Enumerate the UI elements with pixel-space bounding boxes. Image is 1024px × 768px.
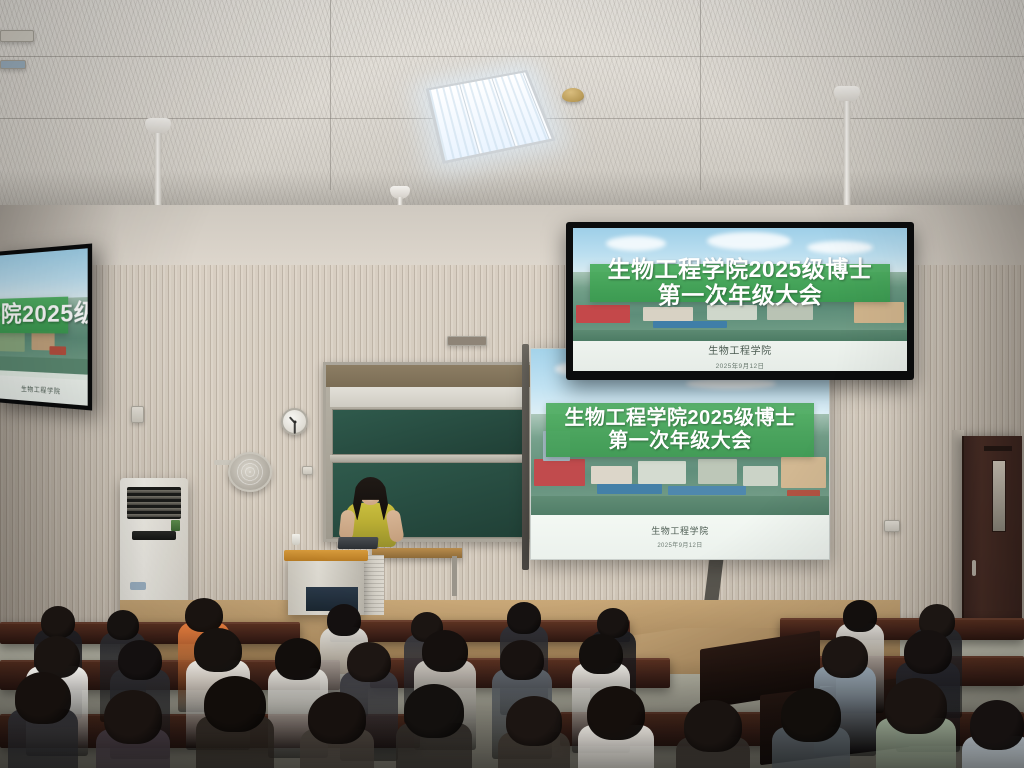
campus-building — [781, 457, 826, 488]
podium-desktop — [284, 550, 368, 561]
cup — [292, 534, 300, 545]
blackboard-top-rail — [326, 365, 530, 387]
audience-member — [578, 686, 654, 768]
campus-building — [638, 461, 686, 484]
slide-sky — [0, 248, 88, 304]
screen-left-rail — [522, 344, 529, 570]
door-handle[interactable] — [972, 560, 976, 576]
audience-head — [347, 642, 391, 682]
audience-head — [970, 700, 1024, 750]
slide-title-band: 生物工程学院2025级博士 第一次年级大会 — [546, 403, 814, 458]
slide-title-line-1: 生物工程学院2025级博士 — [0, 299, 88, 328]
campus-greenery — [531, 496, 829, 517]
campus-waterway — [597, 484, 663, 494]
campus-building — [534, 459, 585, 486]
audience-member — [676, 700, 750, 768]
wall-switch[interactable] — [131, 406, 144, 423]
audience-head — [327, 604, 361, 636]
campus-building — [591, 466, 633, 485]
slide-canvas: 生物工程学院2025级博士 第一次年级大会 生物工程学院 2025年9月12日 — [531, 349, 829, 559]
ac-badge — [171, 520, 180, 531]
campus-building — [643, 307, 693, 321]
ceiling-seam — [0, 56, 1024, 57]
audience-member — [772, 688, 850, 768]
audience-head — [41, 606, 75, 638]
blackboard-mid-rail — [330, 455, 526, 462]
audience-member — [396, 684, 472, 768]
slide-organization: 生物工程学院 — [651, 524, 709, 537]
audience-member — [8, 672, 78, 768]
tv-panel: 生物工程学院2025级博士 第一次年级大会 生物工程学院 2025年9月12日 — [573, 228, 907, 371]
door-window — [992, 460, 1006, 532]
wall-trim — [447, 336, 487, 346]
audience-member — [96, 690, 170, 768]
audience-member — [876, 678, 956, 768]
audience-head — [118, 640, 162, 680]
audience-head — [579, 634, 623, 674]
blackboard-panel-upper — [332, 409, 524, 455]
audience-head — [587, 686, 645, 740]
air-conditioner — [120, 478, 188, 616]
ceiling-seam — [330, 0, 331, 190]
slide-title-band: 生物工程学院2025级博士 第一次年级大会 — [0, 296, 68, 333]
audience-member — [962, 700, 1024, 768]
audience-head — [500, 640, 544, 680]
slide-canvas: 生物工程学院2025级博士 第一次年级大会 生物工程学院 2025年9月12日 — [573, 228, 907, 371]
wall-clock — [281, 408, 308, 435]
audience-head — [308, 692, 366, 744]
cloud-shape — [606, 236, 666, 251]
campus-greenery — [0, 356, 88, 374]
campus-waterway — [653, 321, 726, 328]
audience-head — [506, 696, 562, 746]
slide-organization: 生物工程学院 — [708, 342, 772, 357]
clock-minute-hand — [294, 422, 296, 433]
cloud-shape — [807, 241, 873, 254]
campus-building — [743, 466, 779, 487]
audience-head — [15, 672, 71, 724]
audience-head — [422, 630, 468, 672]
wall-fan-cage — [228, 452, 272, 492]
audience-head — [404, 684, 464, 738]
wall-outlet[interactable] — [884, 520, 900, 532]
campus-greenery — [0, 332, 25, 352]
audience-head — [885, 678, 947, 734]
slide-organization: 生物工程学院 — [21, 384, 61, 396]
overhead-tv: 生物工程学院2025级博士 第一次年级大会 生物工程学院 2025年9月12日 — [566, 222, 914, 380]
audience-member — [300, 692, 374, 768]
campus-building — [854, 302, 904, 323]
door-sign — [984, 446, 1012, 451]
blackboard-white-strip — [330, 387, 526, 407]
slide-footer: 生物工程学院 2025年9月12日 — [573, 341, 907, 371]
audience-head — [684, 700, 742, 752]
slide-title-line-2: 第一次年级大会 — [608, 430, 752, 452]
slide-footer: 生物工程学院 2025年9月12日 — [531, 515, 829, 559]
campus-track — [49, 346, 66, 355]
audience-head — [843, 600, 877, 632]
slide-date: 2025年9月12日 — [657, 540, 702, 549]
slide-title-line-1: 生物工程学院2025级博士 — [608, 257, 873, 283]
ac-grille — [127, 487, 181, 519]
slide-date: 2025年9月12日 — [716, 360, 765, 370]
lecture-hall-photo: 生物工程学院2025级博士 第一次年级大会 生物工程学院 2025年9月12日 — [0, 0, 1024, 768]
audience-head — [107, 610, 139, 640]
audience-head — [781, 688, 841, 742]
campus-waterway — [668, 486, 745, 495]
audience-head — [104, 690, 162, 744]
slide-footer: 生物工程学院 2025年9月12日 — [0, 375, 88, 405]
cloud-shape — [707, 232, 791, 250]
smoke-detector-icon — [562, 88, 584, 102]
campus-building — [698, 459, 737, 484]
slide-canvas: 生物工程学院2025级博士 第一次年级大会 生物工程学院 2025年9月12日 — [0, 248, 88, 405]
clock-center-pin — [293, 420, 296, 423]
lecture-hall-door[interactable] — [962, 436, 1022, 622]
audience-head — [507, 602, 541, 634]
slide-title-line-1: 生物工程学院2025级博士 — [564, 407, 795, 429]
ac-brand-logo — [130, 582, 146, 590]
tv-panel: 生物工程学院2025级博士 第一次年级大会 生物工程学院 2025年9月12日 — [0, 248, 88, 405]
audience-head — [204, 676, 266, 732]
audience-head — [904, 630, 952, 674]
left-tv: 生物工程学院2025级博士 第一次年级大会 生物工程学院 2025年9月12日 — [0, 243, 92, 410]
slide-title-band: 生物工程学院2025级博士 第一次年级大会 — [590, 264, 891, 301]
campus-building — [576, 305, 629, 323]
audience-head — [194, 628, 242, 672]
audience-head — [822, 636, 868, 678]
wall-outlet[interactable] — [302, 466, 313, 475]
desk-leg — [452, 556, 457, 596]
slide-title-line-2: 第一次年级大会 — [658, 283, 823, 309]
ac-display-panel — [132, 531, 176, 540]
audience-head — [275, 638, 321, 680]
audience-member — [196, 676, 274, 768]
audience-head — [185, 598, 223, 632]
audience-member — [498, 696, 570, 768]
wall-fan — [228, 452, 272, 492]
ceiling-seam — [700, 0, 701, 190]
ceiling-vent — [0, 30, 34, 42]
ceiling-fixture — [0, 60, 26, 69]
